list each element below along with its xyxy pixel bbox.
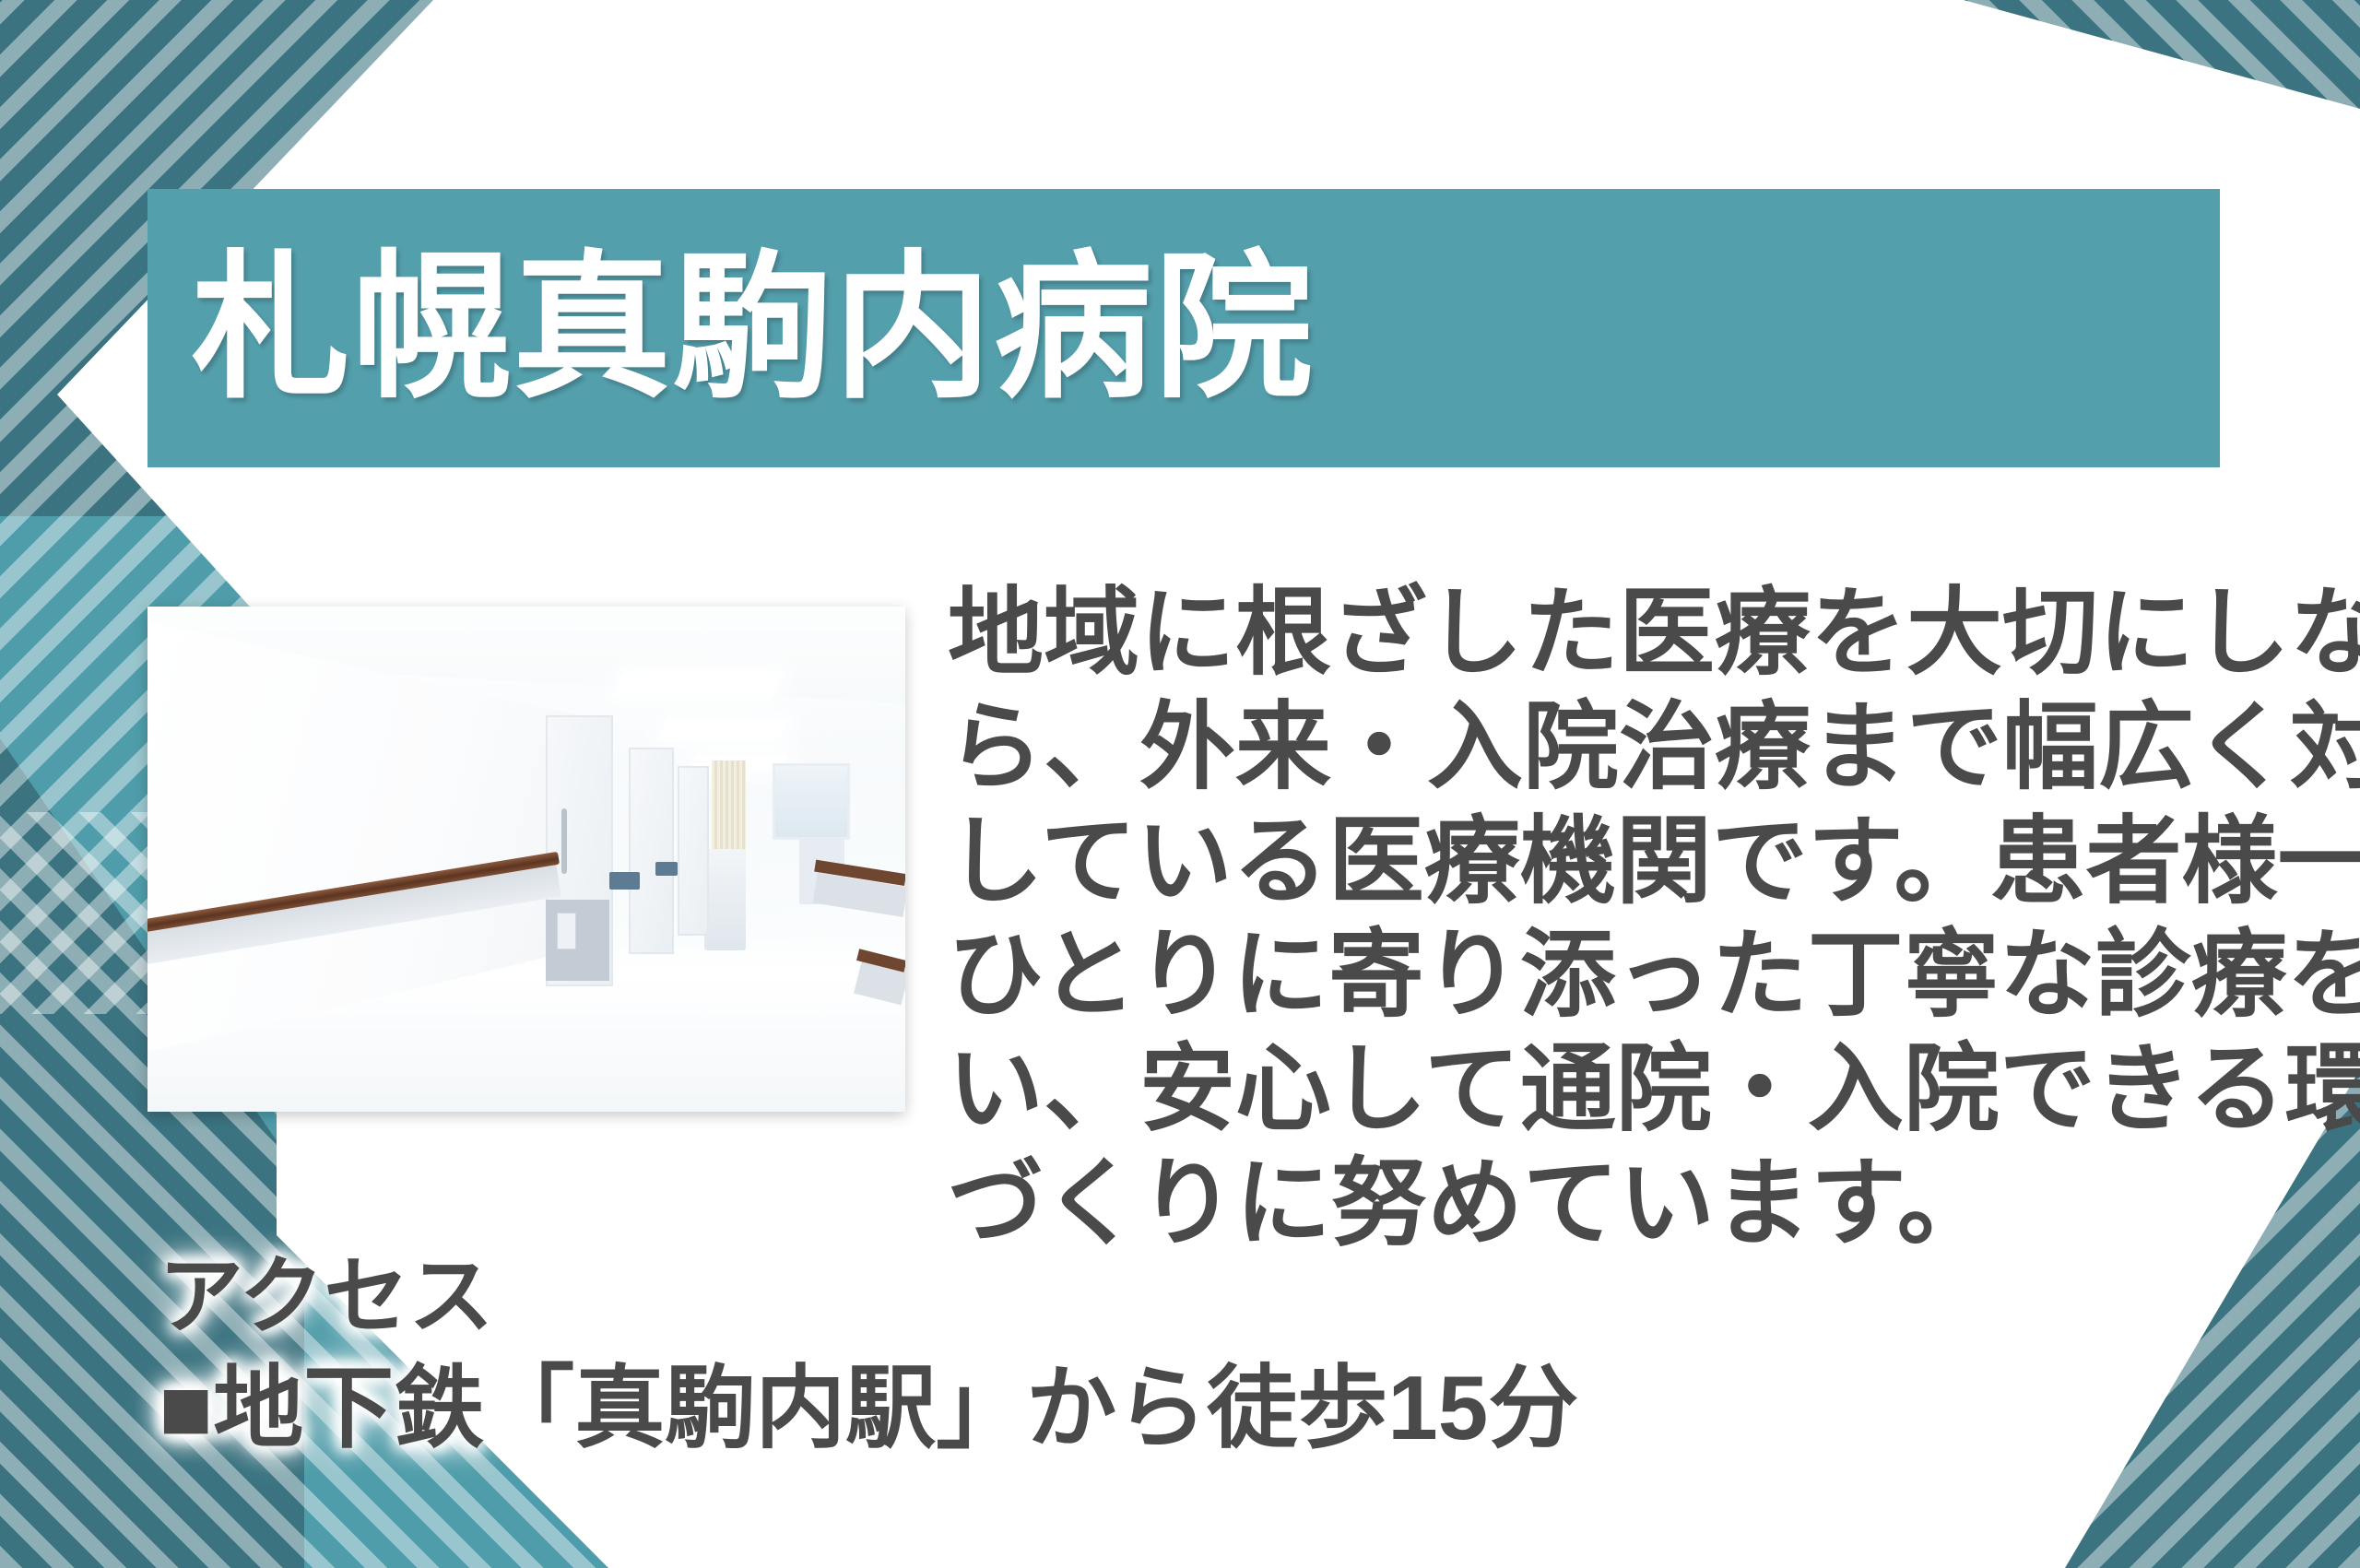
title-banner: 札幌真駒内病院 <box>147 189 2220 467</box>
page-title: 札幌真駒内病院 <box>192 249 1315 407</box>
description-line: ひとりに寄り添った丁寧な診療を行 <box>948 919 2257 1033</box>
photo-sliding-door <box>678 766 709 937</box>
slide-canvas: 札幌真駒内病院 <box>0 0 2360 1568</box>
access-detail-text: ■地下鉄「真駒内駅」から徒歩15分 <box>159 1358 1578 1459</box>
photo-door-panel <box>546 900 609 981</box>
description-line: 地域に根ざした医療を大切にしなが <box>948 577 2257 691</box>
description-line: ら、外来・入院治療まで幅広く対応 <box>948 691 2257 806</box>
photo-window <box>773 763 850 840</box>
access-section: アクセス ■地下鉄「真駒内駅」から徒歩15分 <box>159 1250 1578 1459</box>
access-heading: アクセス <box>159 1250 1578 1345</box>
photo-canvas <box>147 607 905 1112</box>
description-line: づくりに努めています。 <box>948 1148 2257 1262</box>
photo-sliding-door <box>629 748 674 953</box>
photo-wall-sign <box>655 862 678 876</box>
photo-door-handle <box>561 808 568 874</box>
photo-wall-sign <box>609 872 640 890</box>
description-line: い、安心して通院・入院できる環境 <box>948 1033 2257 1148</box>
description-line: している医療機関です。患者様一人 <box>948 806 2257 920</box>
hospital-corridor-photo <box>147 607 905 1112</box>
photo-medical-equipment <box>704 849 746 950</box>
photo-ceiling-light <box>658 720 788 738</box>
description-paragraph: 地域に根ざした医療を大切にしなが ら、外来・入院治療まで幅広く対応 している医療… <box>948 577 2257 1262</box>
photo-ceiling-light <box>611 672 782 695</box>
photo-door-window <box>557 913 576 949</box>
